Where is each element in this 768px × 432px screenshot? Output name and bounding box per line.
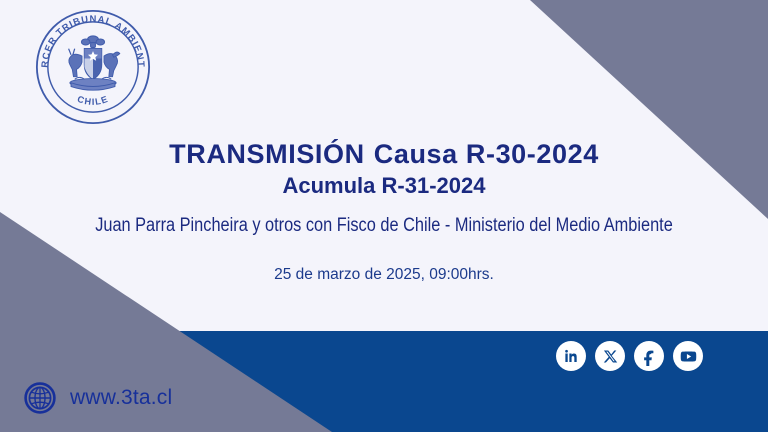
tribunal-seal-logo: TERCER TRIBUNAL AMBIENTAL CHILE xyxy=(24,6,162,128)
title-case-number: Causa R-30-2024 xyxy=(374,139,599,169)
transmission-title: TRANSMISIÓNCausa R-30-2024 xyxy=(0,140,768,170)
accumulated-case-subtitle: Acumula R-31-2024 xyxy=(0,170,768,202)
social-links xyxy=(556,341,703,371)
case-parties-line: Juan Parra Pincheira y otros con Fisco d… xyxy=(54,215,714,238)
coat-of-arms-emblem xyxy=(69,36,120,90)
hearing-datetime: 25 de marzo de 2025, 09:00hrs. xyxy=(0,266,768,285)
slide-canvas: TERCER TRIBUNAL AMBIENTAL CHILE xyxy=(0,0,768,432)
linkedin-icon[interactable] xyxy=(556,341,586,371)
website-footer[interactable]: www.3ta.cl xyxy=(24,382,172,414)
seal-bottom-text: CHILE xyxy=(76,94,110,107)
x-twitter-icon[interactable] xyxy=(595,341,625,371)
website-url: www.3ta.cl xyxy=(70,386,172,410)
youtube-icon[interactable] xyxy=(673,341,703,371)
globe-icon xyxy=(24,382,56,414)
facebook-icon[interactable] xyxy=(634,341,664,371)
title-prefix: TRANSMISIÓN xyxy=(169,139,365,169)
announcement-text-block: TRANSMISIÓNCausa R-30-2024 Acumula R-31-… xyxy=(0,140,768,285)
